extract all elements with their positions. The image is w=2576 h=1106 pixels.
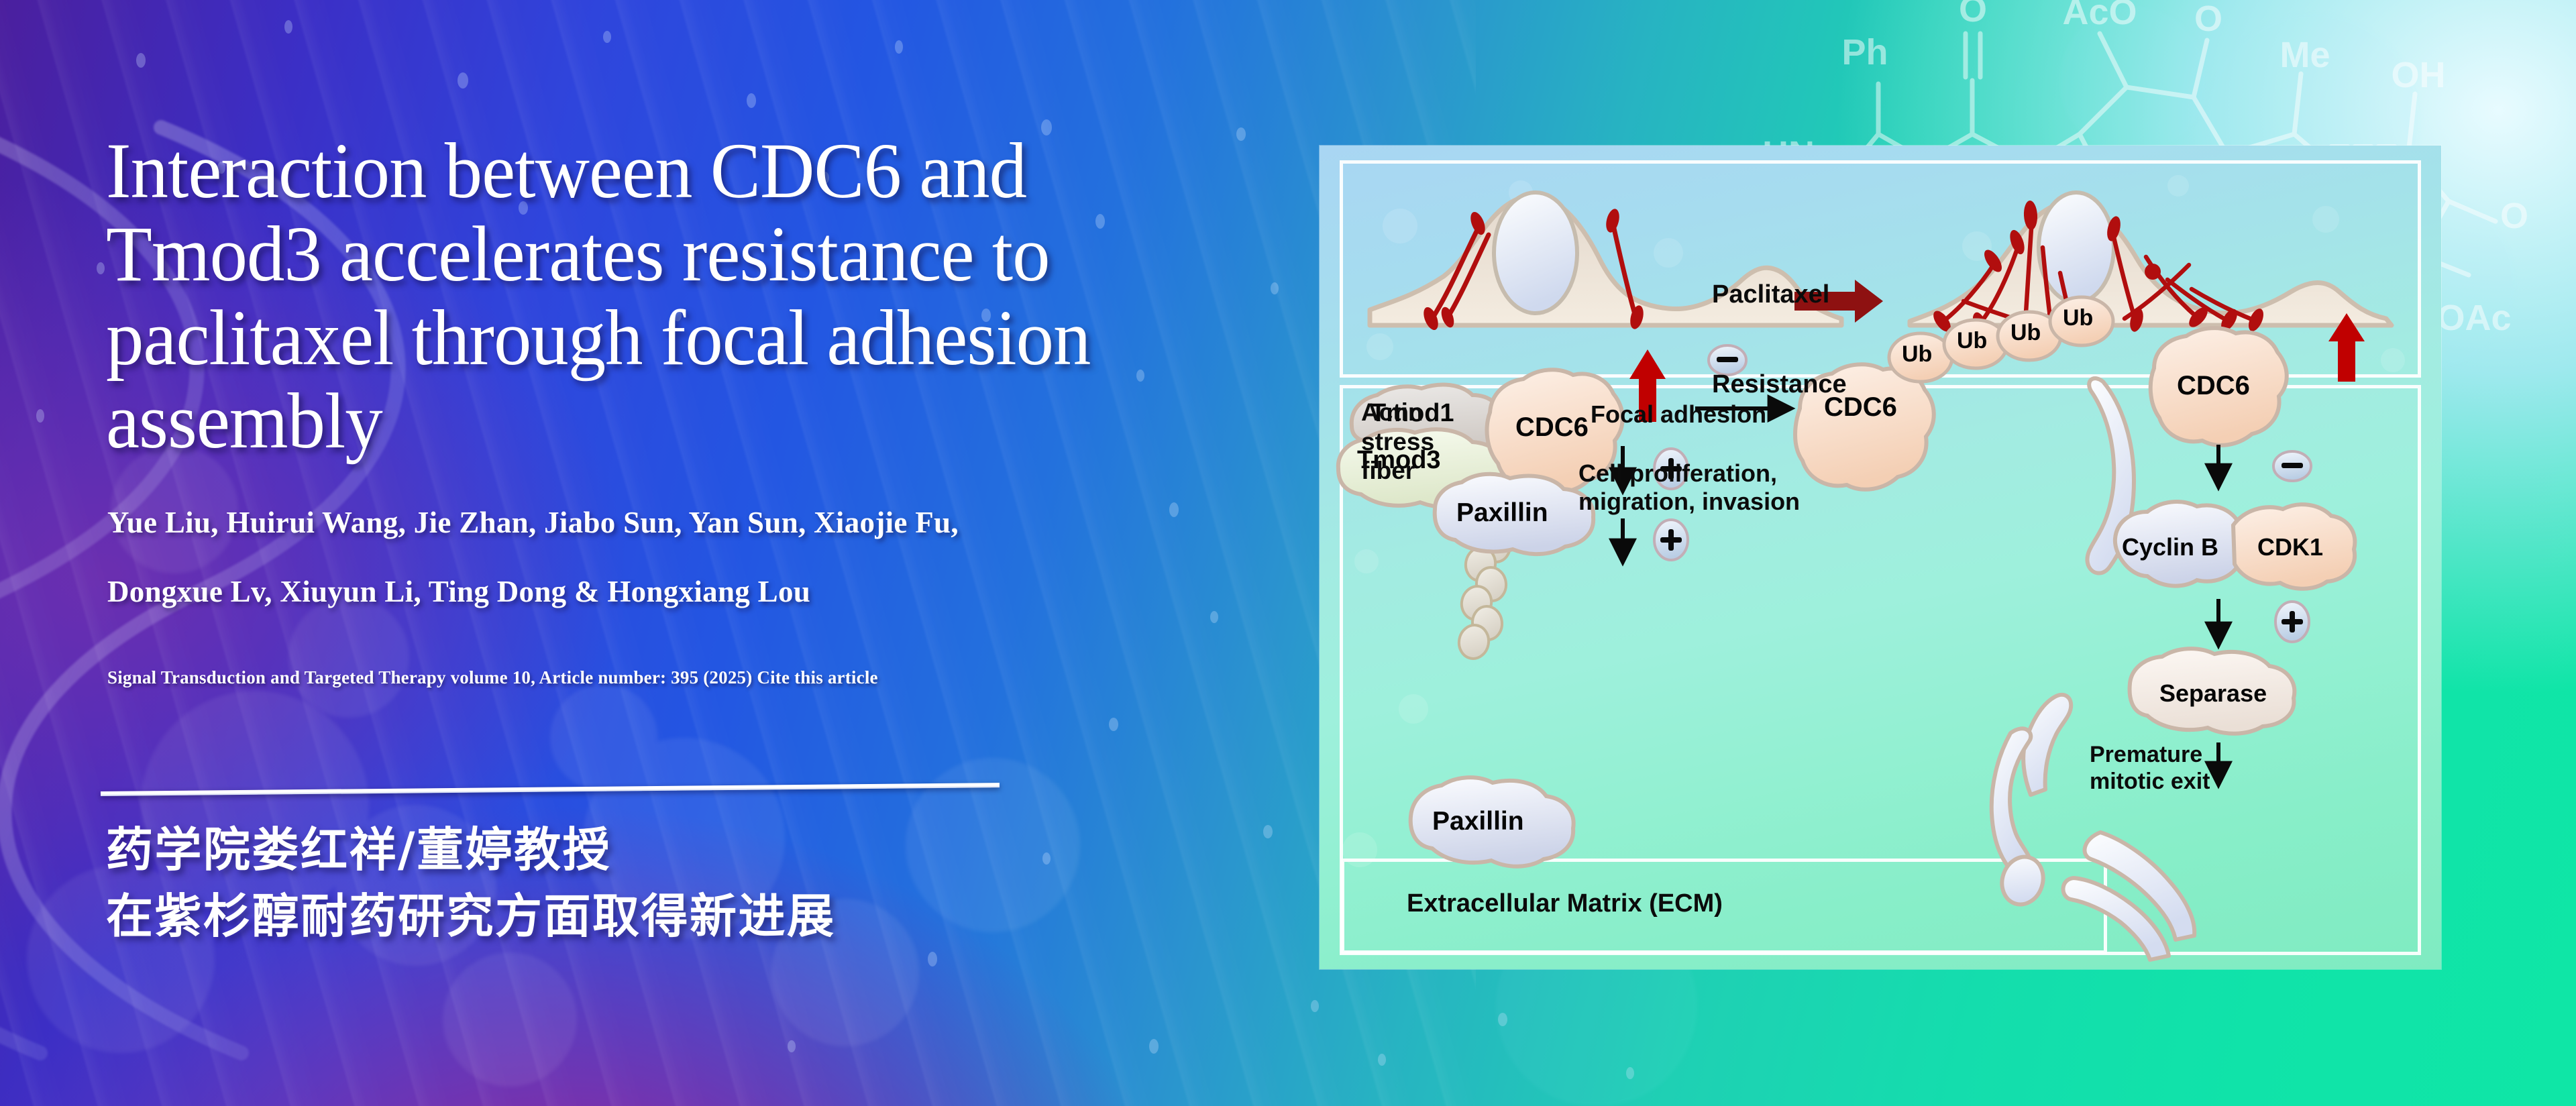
page-title: Interaction between CDC6 and Tmod3 accel… — [106, 129, 1195, 463]
chinese-headline: 药学院娄红祥/董婷教授 在紫杉醇耐药研究方面取得新进展 — [106, 817, 1273, 950]
premature-mitotic-exit-label: Premature mitotic exit — [2090, 741, 2210, 795]
chem-label-AcO: AcO — [2062, 0, 2137, 32]
focal-adhesion-label: Focal adhesion — [1591, 400, 1766, 429]
chem-label-Ph: Ph — [1841, 32, 1888, 72]
chem-label-OH-2: OH — [2392, 55, 2446, 95]
resistant-cell-illustration — [1910, 192, 2392, 337]
cdk1-blob — [2233, 504, 2355, 589]
paxillin-blob-bottom — [1411, 777, 1574, 867]
chinese-line-1: 药学院娄红祥/董婷教授 — [106, 817, 1273, 883]
banner-root: Ph O HN OH AcO O Me OH Me Me H OBz OAc O… — [0, 0, 2576, 1106]
chem-label-Me-1: Me — [2279, 35, 2330, 75]
divider-rule — [101, 783, 1000, 796]
separase-blob — [2130, 649, 2295, 734]
paclitaxel-label-line1: Paclitaxel — [1712, 280, 1847, 310]
journal-citation: Signal Transduction and Targeted Therapy… — [107, 667, 1207, 688]
actin-stress-fiber-label: Actin stress fiber — [1361, 398, 1434, 486]
plus-sign-separase — [2275, 602, 2309, 642]
chem-label-O-2: O — [2194, 0, 2222, 39]
ub-oval-1 — [1889, 333, 1952, 382]
minus-sign-cdk1 — [2273, 451, 2311, 481]
cdc6-blob-right — [2151, 328, 2287, 445]
ecm-label: Extracellular Matrix (ECM) — [1407, 889, 1723, 919]
chinese-line-2: 在紫杉醇耐药研究方面取得新进展 — [106, 883, 1273, 950]
plus-sign-2 — [1654, 520, 1688, 560]
mechanism-figure-panel: Tmod1 Tmod3 CDC6 Paxillin Paxillin CDC6 … — [1320, 146, 2441, 969]
ub-oval-4 — [2050, 297, 2113, 345]
cyclin-b-blob — [2115, 502, 2240, 586]
author-line-2: Dongxue Lv, Xiuyun Li, Ting Dong & Hongx… — [107, 557, 1207, 626]
chem-label-O-3: O — [2500, 196, 2528, 236]
proliferation-migration-invasion-label: Cell proliferation, migration, invasion — [1578, 459, 1800, 516]
chem-label-OAc: OAc — [2436, 298, 2511, 338]
paclitaxel-label-line2: Resistance — [1712, 370, 1847, 400]
chem-label-O-1: O — [1959, 0, 1987, 30]
author-line-1: Yue Liu, Huirui Wang, Jie Zhan, Jiabo Su… — [107, 488, 1207, 557]
pathway-diagram — [1320, 146, 2441, 969]
text-column: Interaction between CDC6 and Tmod3 accel… — [0, 0, 1275, 1106]
author-list: Yue Liu, Huirui Wang, Jie Zhan, Jiabo Su… — [107, 488, 1207, 626]
